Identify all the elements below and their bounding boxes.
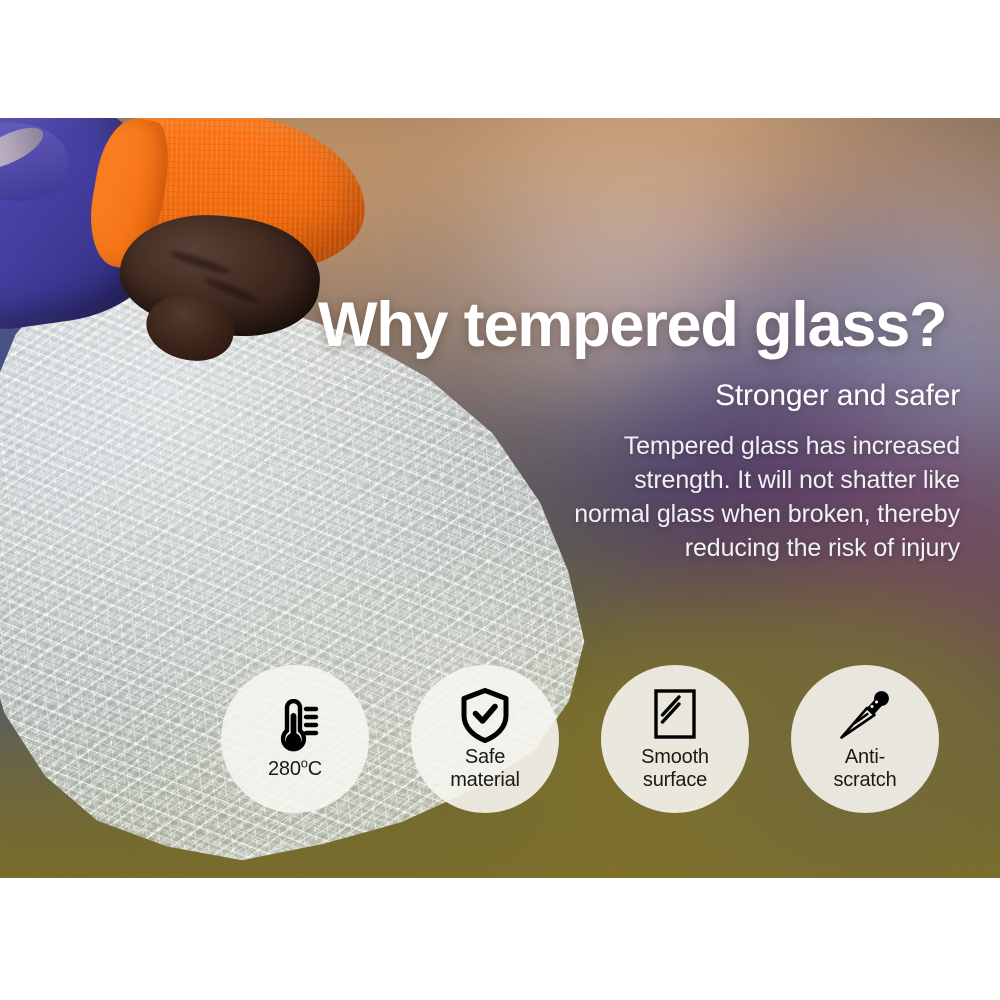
badge-label-line-2: surface: [643, 769, 707, 791]
glass-pane-icon: [646, 686, 704, 744]
subtitle: Stronger and safer: [400, 379, 960, 413]
temperature-unit: C: [308, 758, 322, 780]
feature-badge-row: 280oC Safe material: [221, 644, 939, 834]
infographic-canvas: Why tempered glass? Stronger and safer T…: [0, 0, 1000, 1000]
knife-icon: [836, 686, 894, 744]
body-paragraph: Tempered glass has increased strength. I…: [480, 429, 960, 565]
shield-check-icon: [456, 686, 514, 744]
feature-badge-safe-material: Safe material: [411, 665, 559, 813]
body-line-1: Tempered glass has increased: [480, 429, 960, 463]
feature-badge-label: Anti- scratch: [827, 746, 902, 792]
badge-label-line-2: scratch: [833, 769, 896, 791]
feature-badge-label: 280oC: [262, 758, 328, 781]
thermometer-icon: [266, 698, 324, 756]
page-title: Why tempered glass?: [318, 294, 968, 357]
badge-label-line-1: Safe: [465, 746, 505, 768]
product-photo: Why tempered glass? Stronger and safer T…: [0, 118, 1000, 878]
body-line-3: normal glass when broken, thereby: [480, 497, 960, 531]
temperature-value: 280: [268, 758, 301, 780]
body-line-4: reducing the risk of injury: [480, 531, 960, 565]
badge-label-line-1: Smooth: [641, 746, 709, 768]
gloved-hand: [0, 118, 330, 408]
badge-label-line-1: Anti-: [845, 746, 885, 768]
badge-label-line-2: material: [450, 769, 520, 791]
body-line-2: strength. It will not shatter like: [480, 463, 960, 497]
feature-badge-temperature: 280oC: [221, 665, 369, 813]
degree-symbol: o: [301, 755, 308, 770]
feature-badge-label: Smooth surface: [635, 746, 715, 792]
feature-badge-smooth-surface: Smooth surface: [601, 665, 749, 813]
feature-badge-label: Safe material: [444, 746, 526, 792]
feature-badge-anti-scratch: Anti- scratch: [791, 665, 939, 813]
